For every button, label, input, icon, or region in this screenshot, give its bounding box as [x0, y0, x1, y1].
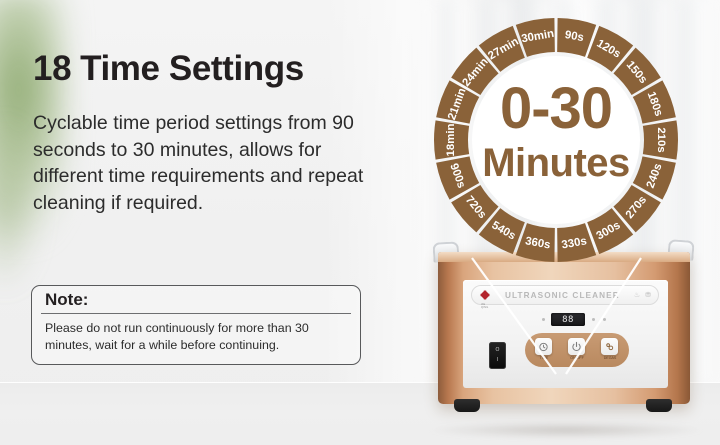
note-box: Note: Please do not run continuously for…	[31, 285, 361, 365]
dial-svg: 90s120s150s180s210s240s270s300s330s360s5…	[434, 18, 678, 262]
panel-marks: ♨ ⛃	[634, 291, 651, 299]
clean-mark-icon: ⛃	[645, 291, 651, 299]
headline-number: 18	[33, 49, 71, 88]
brand-name: JIE QING	[481, 303, 491, 309]
onoff-button[interactable]	[568, 338, 585, 355]
device-foot-left	[454, 399, 480, 412]
panel-title: ULTRASONIC CLEANER	[505, 291, 620, 300]
timer-icon	[538, 341, 549, 352]
page-title: 18Time Settings	[33, 49, 304, 89]
display-value: 88	[562, 315, 574, 325]
note-text: Please do not run continuously for more …	[32, 314, 360, 353]
ultrasonic-cleaner-device: JIE QING ULTRASONIC CLEANER ♨ ⛃ 88 O I	[432, 246, 698, 426]
device-control-panel: JIE QING ULTRASONIC CLEANER ♨ ⛃ 88 O I	[463, 280, 668, 388]
power-rocker-switch[interactable]: O I	[489, 342, 506, 369]
degas-icon	[604, 341, 615, 352]
degas-button-label: DEGAS	[595, 356, 625, 360]
rocker-off-label: O	[496, 348, 500, 353]
device-shadow	[428, 422, 704, 438]
indicator-led-2	[592, 318, 595, 321]
panel-header-strip: JIE QING ULTRASONIC CLEANER ♨ ⛃	[471, 285, 659, 305]
body-description: Cyclable time period settings from 90 se…	[33, 110, 378, 216]
indicator-led-3	[603, 318, 606, 321]
rocker-on-label: I	[497, 358, 498, 363]
dial-segment-label: 210s	[655, 127, 667, 152]
heat-mark-icon: ♨	[634, 291, 640, 299]
indicator-led-1	[542, 318, 545, 321]
dial-center-range: 0-30	[500, 76, 612, 141]
dial-segment-label: 18min	[445, 123, 457, 156]
dial-center-unit: Minutes	[482, 141, 630, 185]
digital-display: 88	[551, 313, 585, 326]
note-title: Note:	[32, 286, 360, 313]
time-button-label: TIME	[529, 356, 559, 360]
time-button[interactable]	[535, 338, 552, 355]
device-body: JIE QING ULTRASONIC CLEANER ♨ ⛃ 88 O I	[438, 252, 690, 404]
device-foot-right	[646, 399, 672, 412]
headline-text: Time Settings	[80, 49, 304, 88]
brand-logo-icon: JIE QING	[478, 289, 491, 302]
power-icon	[571, 341, 582, 352]
onoff-button-label: ON/OFF	[562, 356, 592, 360]
button-pad: TIME ON/OFF DEGAS	[525, 333, 629, 367]
time-settings-dial: 90s120s150s180s210s240s270s300s330s360s5…	[434, 18, 678, 262]
degas-button[interactable]	[601, 338, 618, 355]
